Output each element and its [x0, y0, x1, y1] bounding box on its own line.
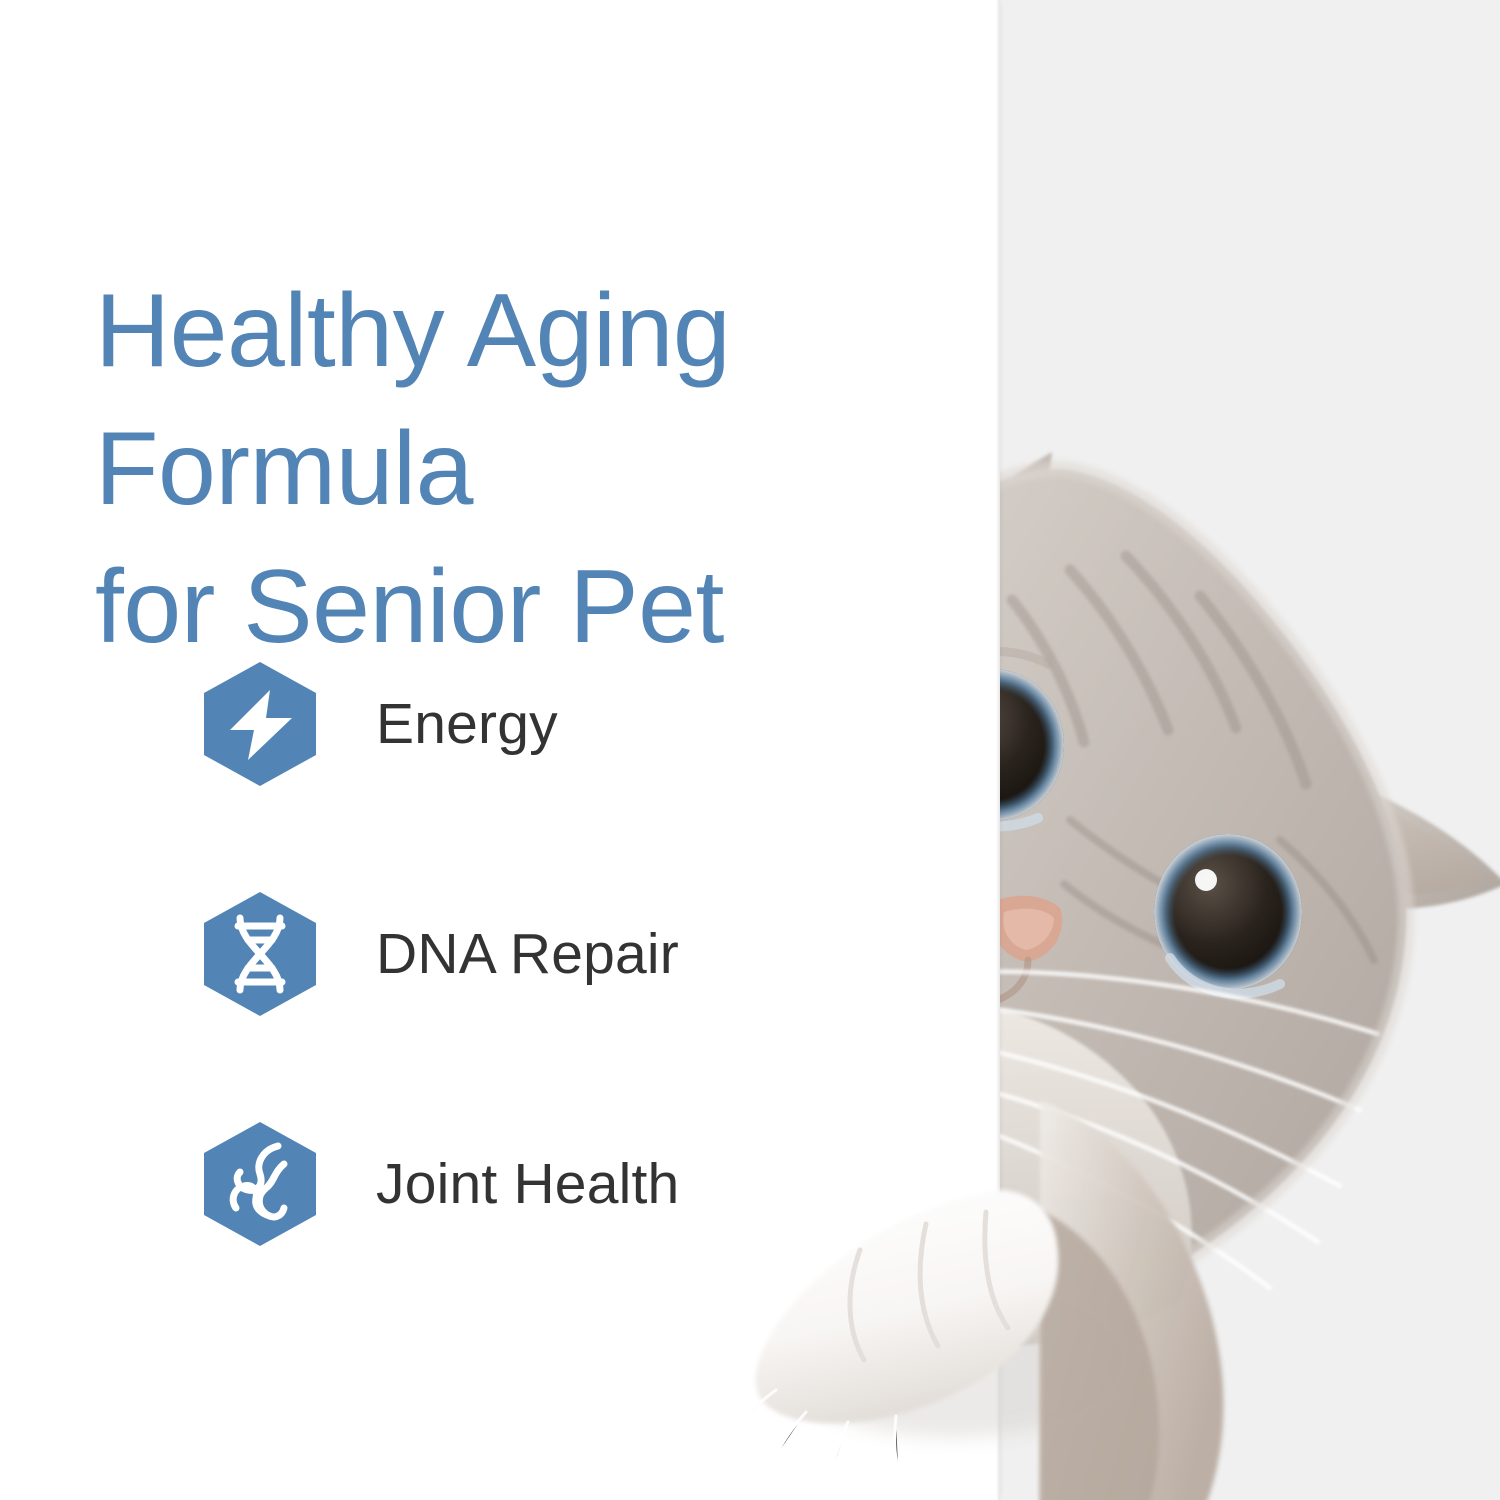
feature-label-energy: Energy [376, 696, 558, 753]
feature-label-joint-health: Joint Health [376, 1156, 679, 1213]
feature-item-joint-health: Joint Health [200, 1120, 679, 1248]
poster-content: Healthy Aging Formula for Senior Pet Ene… [0, 0, 998, 1500]
page-title: Healthy Aging Formula for Senior Pet [95, 262, 955, 677]
poster-canvas: Healthy Aging Formula for Senior Pet Ene… [0, 0, 1500, 1500]
joint-bones-icon [200, 1120, 320, 1248]
kitten-illustration [1000, 0, 1500, 1500]
feature-item-dna-repair: DNA Repair [200, 890, 679, 1018]
feature-list: Energy DNA Repair [200, 660, 679, 1248]
feature-label-dna-repair: DNA Repair [376, 926, 679, 983]
dna-helix-icon [200, 890, 320, 1018]
kitten-photo-zone [1000, 0, 1500, 1500]
feature-item-energy: Energy [200, 660, 679, 788]
lightning-bolt-icon [200, 660, 320, 788]
